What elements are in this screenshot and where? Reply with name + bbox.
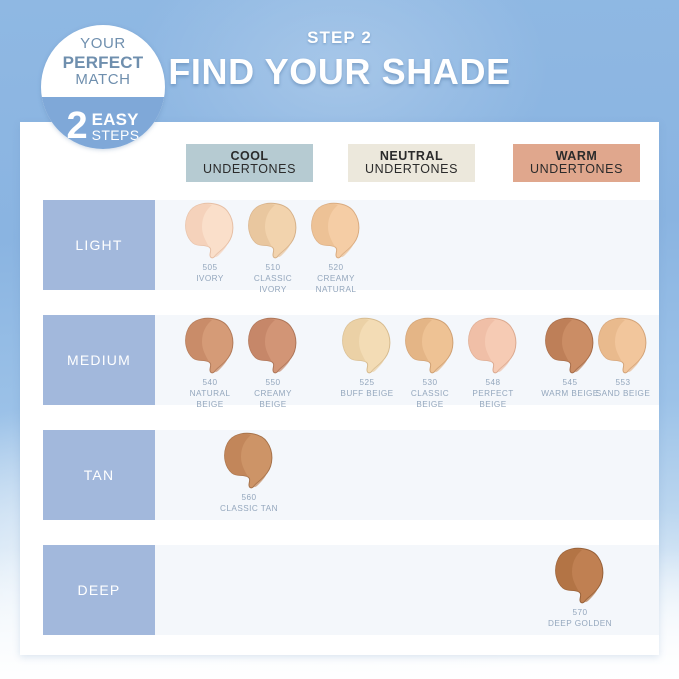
shade-name: CLASSIC BEIGE <box>411 389 449 409</box>
badge-step-words: EASY STEPS <box>92 111 140 142</box>
shade-caption: 570DEEP GOLDEN <box>548 608 612 630</box>
shade-swatch-570[interactable]: 570DEEP GOLDEN <box>548 547 612 630</box>
badge-line-your: YOUR <box>41 36 165 53</box>
perfect-match-badge: YOUR PERFECT MATCH 2 EASY STEPS <box>41 25 165 149</box>
shade-caption: 505IVORY <box>178 263 242 285</box>
foundation-blob-icon <box>308 202 364 260</box>
level-box-light: LIGHT <box>43 200 155 290</box>
shade-code: 525 <box>335 378 399 389</box>
undertone-subtitle: UNDERTONES <box>203 163 296 177</box>
shade-caption: 530CLASSIC BEIGE <box>398 378 462 410</box>
shade-code: 520 <box>304 263 368 274</box>
shade-row-light: LIGHT505IVORY510CLASSIC IVORY520CREAMY N… <box>43 200 659 290</box>
undertone-header-neutral: NEUTRALUNDERTONES <box>348 144 475 182</box>
foundation-blob-icon <box>465 317 521 375</box>
shade-name: SAND BEIGE <box>596 389 651 398</box>
undertone-subtitle: UNDERTONES <box>530 163 623 177</box>
shade-swatch-520[interactable]: 520CREAMY NATURAL <box>304 202 368 295</box>
badge-line-match: MATCH <box>41 72 165 89</box>
undertone-header-warm: WARMUNDERTONES <box>513 144 640 182</box>
shade-code: 550 <box>241 378 305 389</box>
undertone-subtitle: UNDERTONES <box>365 163 458 177</box>
badge-bottom-text: 2 EASY STEPS <box>41 109 165 144</box>
shade-caption: 540NATURAL BEIGE <box>178 378 242 410</box>
shade-name: CLASSIC IVORY <box>254 274 292 294</box>
badge-word-steps: STEPS <box>92 128 140 142</box>
shade-swatch-548[interactable]: 548PERFECT BEIGE <box>461 317 525 410</box>
undertone-name: NEUTRAL <box>380 150 443 164</box>
shade-row-deep: DEEP570DEEP GOLDEN <box>43 545 659 635</box>
foundation-blob-icon <box>182 317 238 375</box>
foundation-blob-icon <box>542 317 598 375</box>
shade-name: CREAMY BEIGE <box>254 389 292 409</box>
shade-caption: 548PERFECT BEIGE <box>461 378 525 410</box>
shade-swatch-525[interactable]: 525BUFF BEIGE <box>335 317 399 400</box>
shade-swatch-540[interactable]: 540NATURAL BEIGE <box>178 317 242 410</box>
level-label: LIGHT <box>75 237 122 253</box>
badge-step-number: 2 <box>66 109 87 144</box>
level-box-deep: DEEP <box>43 545 155 635</box>
badge-top-text: YOUR PERFECT MATCH <box>41 36 165 89</box>
level-box-medium: MEDIUM <box>43 315 155 405</box>
shade-caption: 520CREAMY NATURAL <box>304 263 368 295</box>
shade-code: 560 <box>217 493 281 504</box>
badge-word-easy: EASY <box>92 111 140 128</box>
shade-name: IVORY <box>196 274 224 283</box>
shade-caption: 525BUFF BEIGE <box>335 378 399 400</box>
shade-name: BUFF BEIGE <box>340 389 393 398</box>
undertone-name: COOL <box>230 150 268 164</box>
level-label: DEEP <box>78 582 121 598</box>
foundation-blob-icon <box>339 317 395 375</box>
undertone-header-cool: COOLUNDERTONES <box>186 144 313 182</box>
shade-code: 548 <box>461 378 525 389</box>
foundation-blob-icon <box>595 317 651 375</box>
shade-swatch-550[interactable]: 550CREAMY BEIGE <box>241 317 305 410</box>
shade-name: CREAMY NATURAL <box>316 274 357 294</box>
foundation-blob-icon <box>221 432 277 490</box>
shade-caption: 550CREAMY BEIGE <box>241 378 305 410</box>
level-label: MEDIUM <box>67 352 131 368</box>
undertone-name: WARM <box>556 150 598 164</box>
level-label: TAN <box>84 467 115 483</box>
shade-name: PERFECT BEIGE <box>472 389 513 409</box>
shade-swatch-510[interactable]: 510CLASSIC IVORY <box>241 202 305 295</box>
shade-swatch-560[interactable]: 560CLASSIC TAN <box>217 432 281 515</box>
shade-caption: 553SAND BEIGE <box>591 378 655 400</box>
shade-caption: 560CLASSIC TAN <box>217 493 281 515</box>
shade-code: 510 <box>241 263 305 274</box>
level-box-tan: TAN <box>43 430 155 520</box>
undertone-header-row: COOLUNDERTONESNEUTRALUNDERTONESWARMUNDER… <box>20 144 659 182</box>
shade-swatch-505[interactable]: 505IVORY <box>178 202 242 285</box>
shade-swatch-553[interactable]: 553SAND BEIGE <box>591 317 655 400</box>
foundation-blob-icon <box>402 317 458 375</box>
shade-swatch-530[interactable]: 530CLASSIC BEIGE <box>398 317 462 410</box>
shade-name: CLASSIC TAN <box>220 504 278 513</box>
shade-code: 553 <box>591 378 655 389</box>
shade-name: DEEP GOLDEN <box>548 619 612 628</box>
badge-line-perfect: PERFECT <box>41 53 165 72</box>
shade-code: 570 <box>548 608 612 619</box>
foundation-blob-icon <box>552 547 608 605</box>
shade-name: NATURAL BEIGE <box>190 389 231 409</box>
shade-caption: 510CLASSIC IVORY <box>241 263 305 295</box>
shade-code: 505 <box>178 263 242 274</box>
shade-row-tan: TAN560CLASSIC TAN <box>43 430 659 520</box>
shade-row-medium: MEDIUM540NATURAL BEIGE550CREAMY BEIGE525… <box>43 315 659 405</box>
foundation-blob-icon <box>182 202 238 260</box>
shade-finder-card: COOLUNDERTONESNEUTRALUNDERTONESWARMUNDER… <box>20 122 659 655</box>
foundation-blob-icon <box>245 202 301 260</box>
foundation-blob-icon <box>245 317 301 375</box>
shade-code: 530 <box>398 378 462 389</box>
shade-code: 540 <box>178 378 242 389</box>
